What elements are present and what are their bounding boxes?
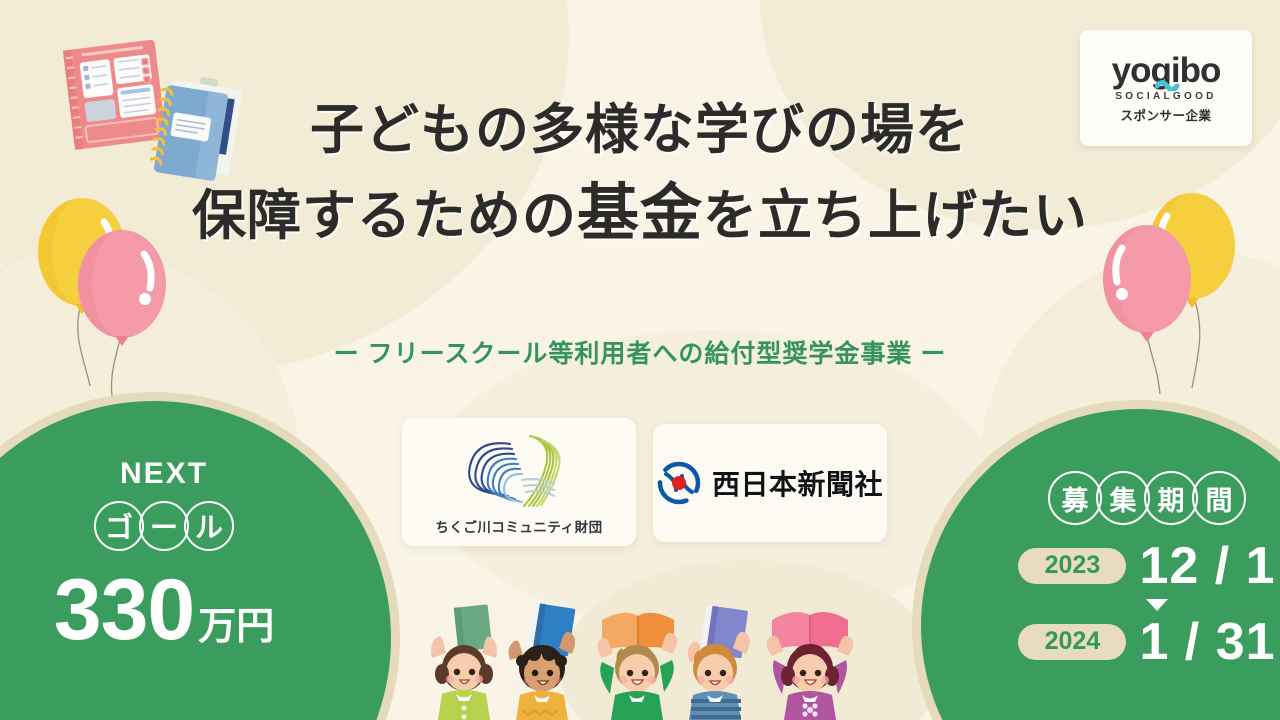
period-end-row: 2024 1 / 31 bbox=[1018, 615, 1275, 670]
goal-amount-unit: 万円 bbox=[198, 595, 274, 650]
partner-card-chikugogawa: ちくご川コミュニティ財団 bbox=[402, 418, 636, 546]
goal-chars: ゴ ー ル bbox=[9, 501, 319, 551]
next-label: NEXT bbox=[9, 457, 319, 491]
girl-with-green-book bbox=[431, 604, 497, 720]
period-circle: 募 集 期 間 2023 12 / 1 2024 1 / 31 bbox=[912, 400, 1280, 720]
start-date: 12 / 1 bbox=[1139, 539, 1275, 594]
end-year-pill: 2024 bbox=[1018, 624, 1126, 660]
headline-emphasis: 基金 bbox=[577, 179, 703, 248]
partner-name: ちくご川コミュニティ財団 bbox=[435, 516, 602, 536]
period-title-char: 集 bbox=[1096, 471, 1150, 525]
period-title-char: 間 bbox=[1192, 471, 1246, 525]
chikugogawa-community-foundation-mark bbox=[460, 428, 578, 512]
next-goal-circle: NEXT ゴ ー ル 330 万円 bbox=[0, 392, 400, 720]
girl-with-pink-book bbox=[767, 612, 854, 720]
yogibo-tagline: SOCIALGOOD bbox=[1115, 91, 1216, 102]
boy-with-purple-book bbox=[688, 604, 750, 720]
sponsor-label: スポンサー企業 bbox=[1120, 105, 1211, 124]
nishinippon-shimbun-mark bbox=[657, 461, 701, 505]
goal-amount: 330 万円 bbox=[9, 567, 319, 653]
period-title-char: 募 bbox=[1048, 471, 1102, 525]
headline-line-2: 保障するための基金を立ち上げたい bbox=[0, 180, 1280, 250]
boy-with-orange-book bbox=[597, 613, 677, 720]
campaign-banner: 子どもの多様な学びの場を 保障するための基金を立ち上げたい ー フリースクール等… bbox=[0, 0, 1280, 720]
headline-line-2c: を立ち上げたい bbox=[703, 186, 1088, 246]
subtitle: ー フリースクール等利用者への給付型奨学金事業 ー bbox=[0, 334, 1280, 370]
goal-amount-number: 330 bbox=[54, 567, 195, 653]
sponsor-card: yogibo SOCIALGOOD スポンサー企業 bbox=[1080, 30, 1252, 146]
boy-with-blue-book bbox=[509, 602, 576, 720]
goal-char: ル bbox=[184, 501, 234, 551]
kids-illustration bbox=[404, 598, 880, 720]
headline-line-2a: 保障するための bbox=[192, 186, 577, 246]
end-date: 1 / 31 bbox=[1139, 615, 1275, 670]
partner-name: 西日本新聞社 bbox=[712, 463, 883, 503]
arrow-down-icon bbox=[1146, 599, 1168, 611]
yogibo-wordmark: yogibo bbox=[1112, 53, 1221, 88]
period-title: 募 集 期 間 bbox=[1048, 471, 1246, 525]
goal-char: ー bbox=[139, 501, 189, 551]
period-dates: 2023 12 / 1 2024 1 / 31 bbox=[1018, 539, 1275, 669]
period-start-row: 2023 12 / 1 bbox=[1018, 539, 1275, 594]
start-year-pill: 2023 bbox=[1018, 548, 1126, 584]
partner-card-nishinippon: 西日本新聞社 bbox=[653, 424, 887, 542]
goal-char: ゴ bbox=[94, 501, 144, 551]
period-title-char: 期 bbox=[1144, 471, 1198, 525]
yogibo-wave-icon bbox=[1155, 78, 1181, 91]
